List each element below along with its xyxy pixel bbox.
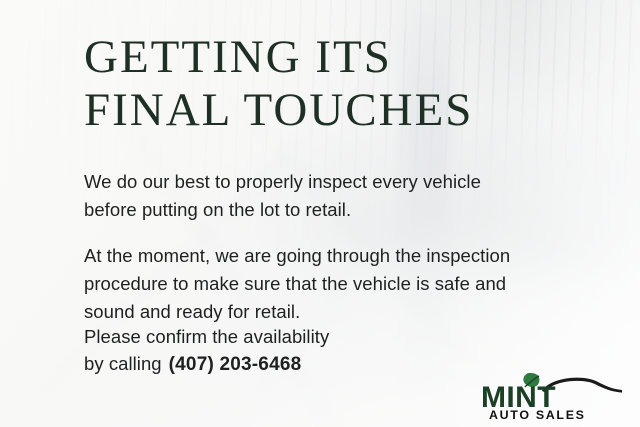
body-copy: We do our best to properly inspect every…: [84, 168, 514, 326]
headline-line-1: GETTING ITS: [84, 31, 392, 83]
cta-prefix: by calling: [84, 353, 162, 374]
phone-number[interactable]: (407) 203-6468: [169, 354, 302, 375]
call-to-action: Please confirm the availability by calli…: [84, 323, 329, 378]
body-paragraph-1: We do our best to properly inspect every…: [84, 168, 514, 224]
headline-line-2: FINAL TOUCHES: [84, 84, 473, 136]
brand-logo[interactable]: MINT AUTO SALES: [480, 371, 632, 421]
promo-card: GETTING ITS FINAL TOUCHES We do our best…: [0, 0, 640, 427]
body-paragraph-2: At the moment, we are going through the …: [84, 242, 514, 326]
cta-line-2: by calling(407) 203-6468: [84, 350, 329, 378]
page-title: GETTING ITS FINAL TOUCHES: [84, 31, 473, 137]
card-content: GETTING ITS FINAL TOUCHES We do our best…: [0, 0, 640, 427]
cta-line-1: Please confirm the availability: [84, 323, 329, 350]
logo-tagline-text: AUTO SALES: [489, 408, 586, 421]
